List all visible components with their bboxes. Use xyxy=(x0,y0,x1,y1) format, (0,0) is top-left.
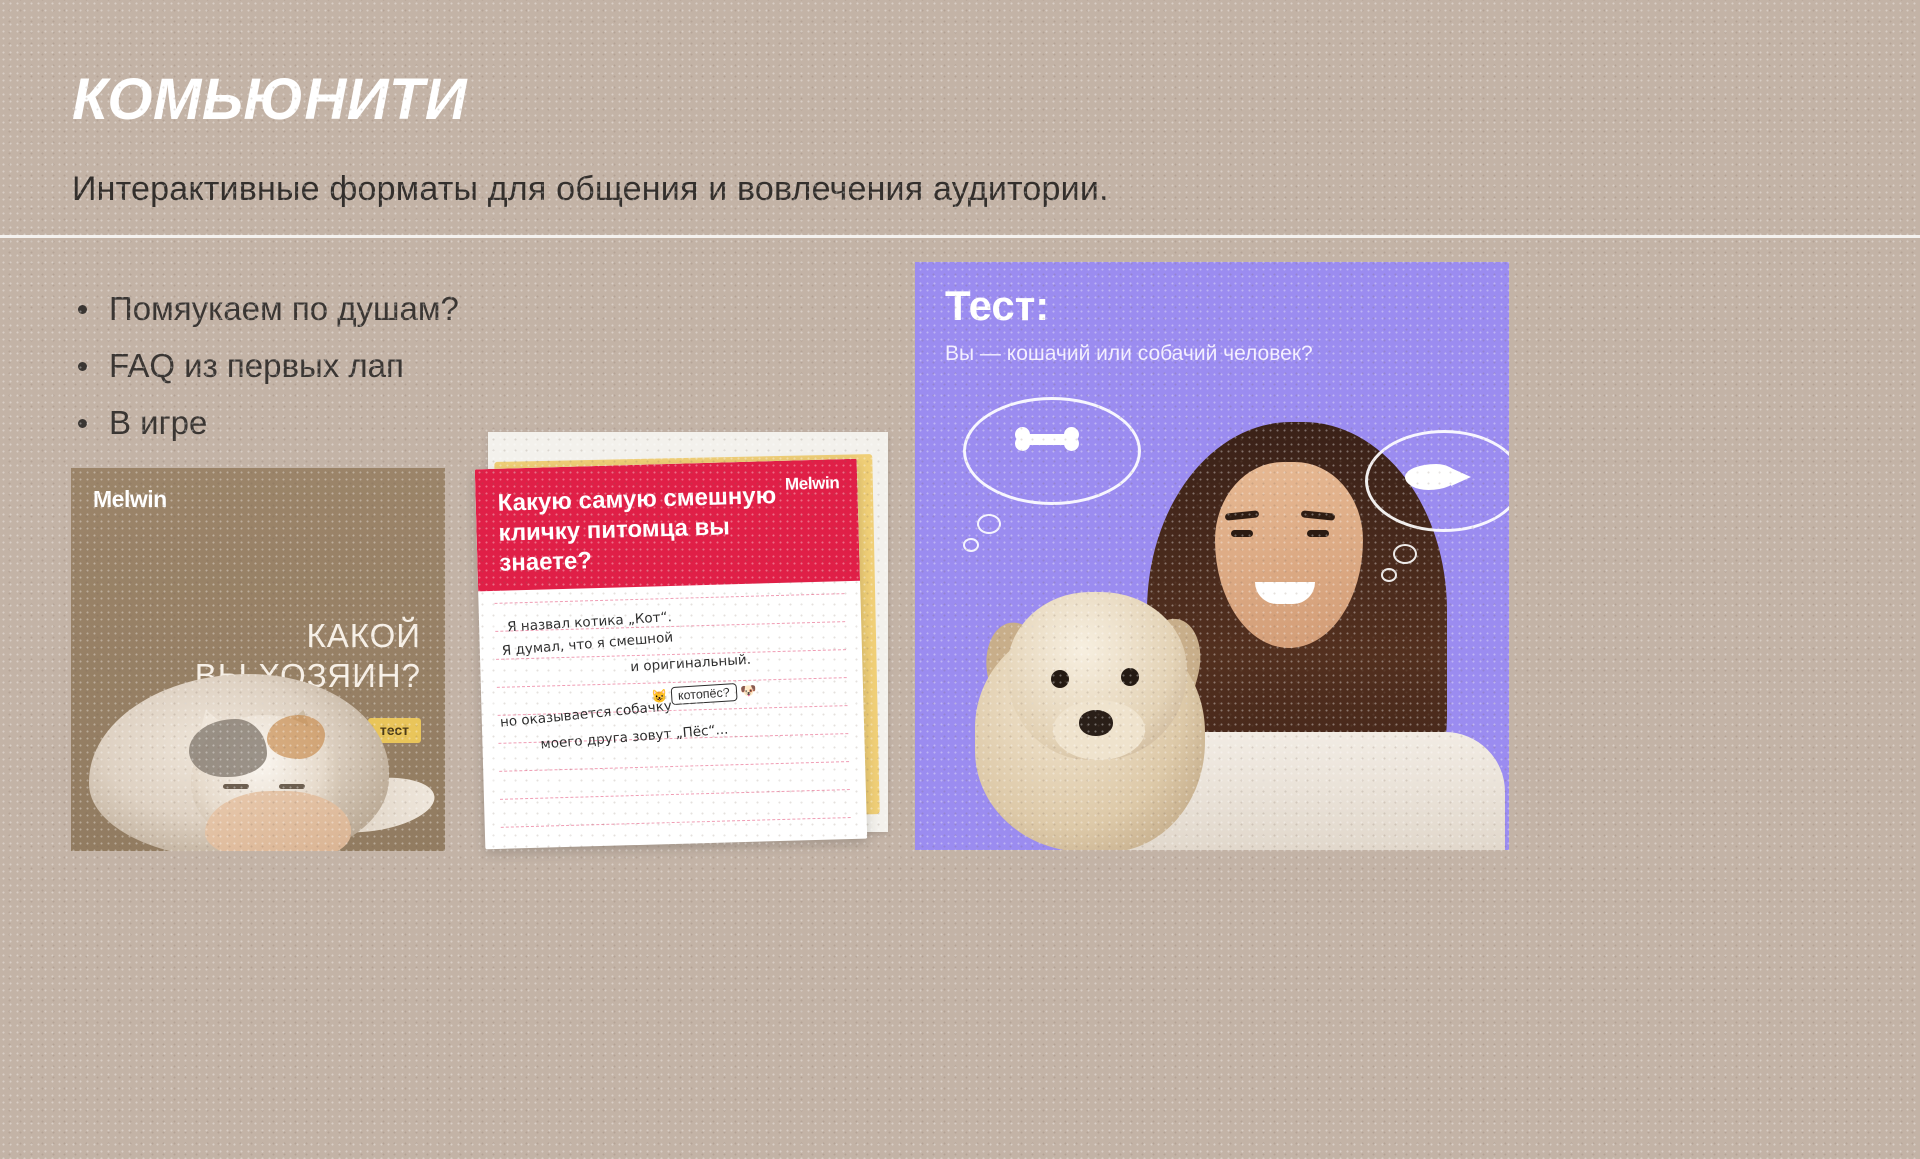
note-front-sheet: Какую самую смешную кличку питомца вы зн… xyxy=(475,459,867,850)
dog-eye-right xyxy=(1121,668,1139,686)
purple-card-subtitle: Вы — кошачий или собачий человек? xyxy=(945,342,1313,366)
cat-fur-patch-orange xyxy=(267,715,325,759)
woman-eye-right xyxy=(1307,530,1329,537)
purple-card-title: Тест: xyxy=(945,282,1049,330)
list-item: Помяукаем по душам? xyxy=(78,288,459,331)
thought-dot-small-left xyxy=(963,538,979,552)
card-cat-quiz: Melwin КАКОЙ ВЫ ХОЗЯИН? тест xyxy=(71,468,445,851)
card-purple-test: Тест: Вы — кошачий или собачий человек? xyxy=(915,262,1509,850)
dog-eye-left xyxy=(1051,670,1069,688)
bullet-dot-icon xyxy=(78,305,87,314)
melwin-logo: Melwin xyxy=(785,473,840,495)
melwin-logo: Melwin xyxy=(93,486,167,513)
cat-photo xyxy=(71,636,445,851)
woman-eye-left xyxy=(1231,530,1253,537)
bullet-list: Помяукаем по душам? FAQ из первых лап В … xyxy=(78,288,459,459)
bullet-dot-icon xyxy=(78,362,87,371)
page-subtitle: Интерактивные форматы для общения и вовл… xyxy=(72,170,1109,209)
cat-doodle-icon: 😺 xyxy=(651,688,668,704)
bullet-dot-icon xyxy=(78,419,87,428)
card-note-question: Какую самую смешную кличку питомца вы зн… xyxy=(470,432,888,850)
thought-dot-large-left xyxy=(977,514,1001,534)
list-item: FAQ из первых лап xyxy=(78,345,459,388)
bone-icon xyxy=(1015,427,1079,451)
dog-nose-icon xyxy=(1079,710,1113,736)
bullet-label: Помяукаем по душам? xyxy=(109,288,459,331)
dog-doodle-icon: 🐶 xyxy=(740,683,757,699)
list-item: В игре xyxy=(78,402,459,445)
header-divider xyxy=(0,235,1920,238)
fish-icon xyxy=(1405,460,1475,494)
bullet-label: FAQ из первых лап xyxy=(109,345,404,388)
cat-eye-right-icon xyxy=(279,784,305,789)
page-title: КОМЬЮНИТИ xyxy=(72,66,467,133)
note-header-banner: Какую самую смешную кличку питомца вы зн… xyxy=(475,459,860,592)
slide-root: КОМЬЮНИТИ Интерактивные форматы для обще… xyxy=(0,0,1920,1159)
cat-eye-left-icon xyxy=(223,784,249,789)
thought-dot-large-right xyxy=(1393,544,1417,564)
thought-dot-small-right xyxy=(1381,568,1397,582)
bullet-label: В игре xyxy=(109,402,207,445)
note-question-text: Какую самую смешную кличку питомца вы зн… xyxy=(497,480,799,578)
thought-bubble-left xyxy=(963,397,1141,505)
